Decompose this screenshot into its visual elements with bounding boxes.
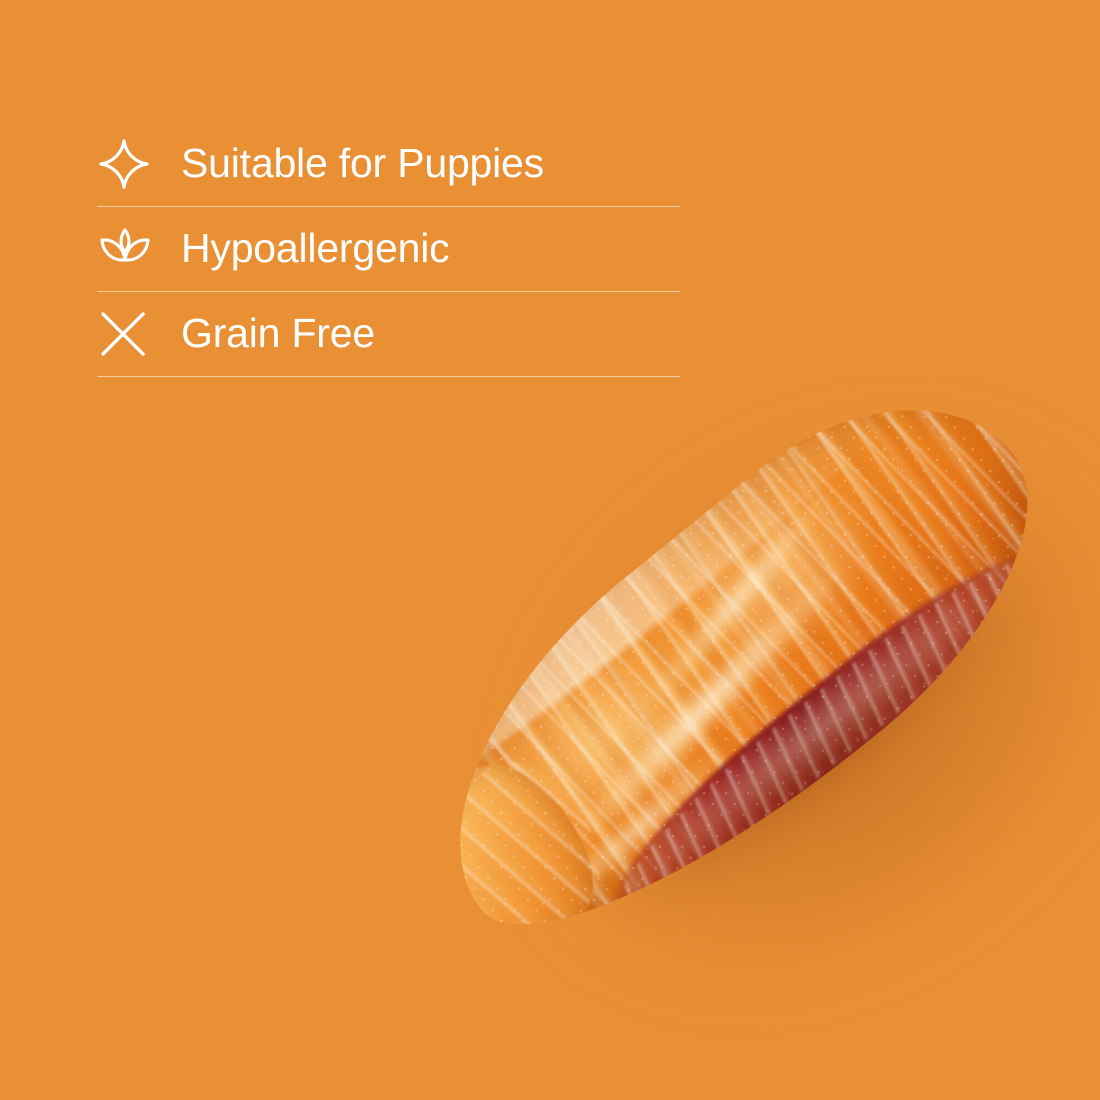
- lotus-leaf-icon: [99, 221, 165, 277]
- feature-row-suitable-for-puppies: Suitable for Puppies: [97, 122, 680, 207]
- feature-row-grain-free: Grain Free: [97, 292, 680, 377]
- torn-tip-fibers: [393, 739, 629, 975]
- torn-tip: [389, 744, 621, 980]
- frosted-top-edge: [416, 387, 890, 787]
- fiber-texture-layer-3: [376, 339, 1096, 997]
- skin-crystal-texture: [595, 520, 1072, 925]
- sugar-speckles: [376, 339, 1096, 997]
- fiber-texture-layer-2: [376, 339, 1096, 997]
- sparkle-diamond-icon: [99, 136, 165, 192]
- feature-row-hypoallergenic: Hypoallergenic: [97, 207, 680, 292]
- dried-sweet-potato-slice: [336, 258, 1100, 1078]
- sugar-bloom-streak-2: [603, 448, 869, 754]
- feature-label: Suitable for Puppies: [165, 143, 544, 184]
- feature-label: Grain Free: [165, 313, 375, 354]
- red-skin-edge: [581, 507, 1091, 942]
- slice-body: [376, 339, 1096, 997]
- x-cross-icon: [99, 306, 165, 362]
- feature-label: Hypoallergenic: [165, 228, 449, 269]
- sugar-bloom-streak-3: [504, 702, 775, 953]
- sugar-bloom-streak-1: [505, 502, 905, 914]
- fiber-texture-layer-1: [376, 339, 1096, 997]
- feature-list: Suitable for Puppies Hypoallergenic: [97, 122, 680, 377]
- product-feature-card: Suitable for Puppies Hypoallergenic: [0, 0, 1100, 1100]
- contact-shadow: [546, 517, 1100, 996]
